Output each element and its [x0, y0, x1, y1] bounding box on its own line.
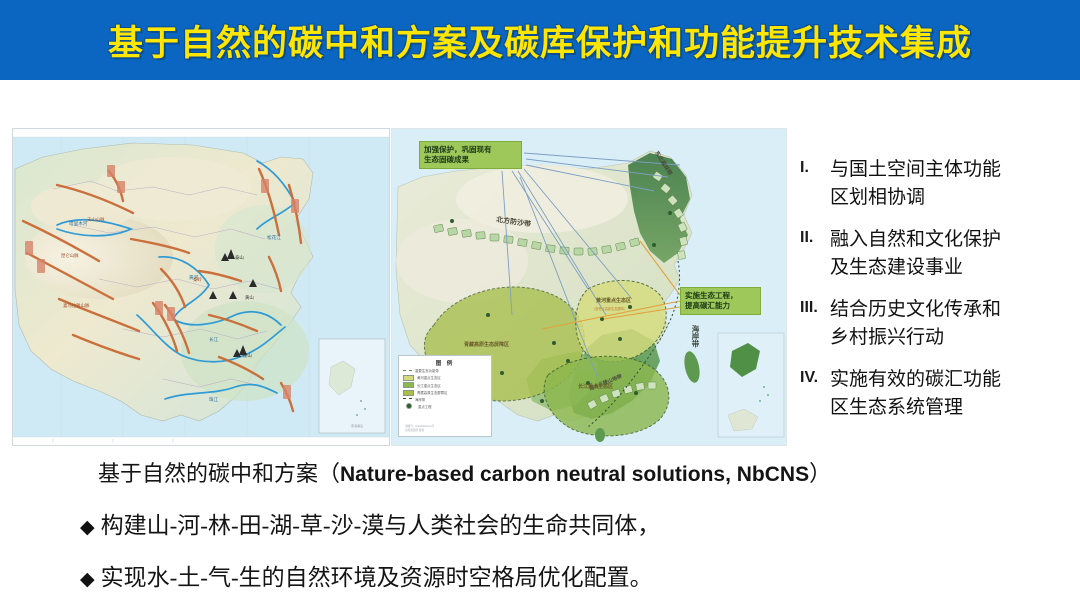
callout-engineering: 实施生态工程， 提高碳汇能力 — [680, 287, 761, 315]
list-item-line1: 结合历史文化传承和 — [830, 296, 1001, 324]
bullet-item-2: ◆ 实现水-土-气-生的自然环境及资源时空格局优化配置。 — [80, 558, 1080, 592]
legend-item: 重要生态功能带 — [403, 368, 491, 373]
legend-swatch-project — [406, 403, 412, 409]
page-title: 基于自然的碳中和方案及碳库保护和功能提升技术集成 — [0, 0, 1080, 80]
list-item-text: 结合历史文化传承和 乡村振兴行动 — [830, 296, 1001, 351]
right-map-eco-zones: 加强保护，巩固现有 生态固碳成果 实施生态工程， 提高碳汇能力 北方防沙带 东北… — [391, 128, 787, 446]
list-item-line2: 乡村振兴行动 — [830, 324, 1001, 352]
list-item-line2: 区划相协调 — [830, 184, 1001, 212]
list-item: II. 融入自然和文化保护 及生态建设事业 — [800, 226, 1072, 281]
bullet-text-2: 实现水-土-气-生的自然环境及资源时空格局优化配置。 — [101, 558, 653, 592]
left-map-svg: 南海诸岛 — [13, 129, 389, 445]
map-credit: 审图号：GS(2020)xxxx号 自然资源部 监制 — [405, 425, 434, 433]
legend-swatch-belt — [403, 370, 412, 372]
bottom-text-block: 基于自然的碳中和方案（Nature-based carbon neutral s… — [0, 448, 1080, 592]
list-item: III. 结合历史文化传承和 乡村振兴行动 — [800, 296, 1072, 351]
list-item-text: 融入自然和文化保护 及生态建设事业 — [830, 226, 1001, 281]
legend-item: 黄河重点生态区 — [403, 375, 491, 381]
legend-item: 重点工程 — [403, 403, 491, 409]
concept-close: ） — [809, 461, 831, 486]
list-item-numeral: II. — [800, 226, 830, 281]
list-item-text: 实施有效的碳汇功能 区生态系统管理 — [830, 366, 1001, 421]
list-item: I. 与国土空间主体功能 区划相协调 — [800, 156, 1072, 211]
concept-cn: 基于自然的碳中和方案（ — [98, 461, 340, 486]
legend-swatch-yellow-river — [403, 375, 414, 381]
legend-item: 海岸带 — [403, 397, 491, 402]
legend-swatch-yangtze — [403, 382, 414, 388]
concept-en: Nature-based carbon neutral solutions, N… — [340, 463, 809, 486]
diamond-bullet-icon: ◆ — [80, 516, 95, 539]
list-item-line2: 及生态建设事业 — [830, 254, 1001, 282]
slide-root: 基于自然的碳中和方案及碳库保护和功能提升技术集成 — [0, 0, 1080, 608]
key-points-list: I. 与国土空间主体功能 区划相协调 II. 融入自然和文化保护 及生态建设事业… — [800, 156, 1072, 436]
legend-swatch-coast — [403, 398, 412, 400]
bullet-text-1: 构建山-河-林-田-湖-草-沙-漠与人类社会的生命共同体， — [101, 506, 661, 540]
legend-swatch-tibet — [403, 390, 414, 396]
diamond-bullet-icon: ◆ — [80, 568, 95, 591]
legend-item: 长江重点生态区 — [403, 382, 491, 388]
list-item-line1: 融入自然和文化保护 — [830, 226, 1001, 254]
concept-line: 基于自然的碳中和方案（Nature-based carbon neutral s… — [98, 456, 1080, 488]
maps-container: 南海诸岛 塔里木河 黄河 长江 珠江 松花江 天山山脉 昆仑山脉 喜马拉雅山脉 … — [12, 128, 787, 446]
list-item-text: 与国土空间主体功能 区划相协调 — [830, 156, 1001, 211]
list-item: IV. 实施有效的碳汇功能 区生态系统管理 — [800, 366, 1072, 421]
list-item-line1: 实施有效的碳汇功能 — [830, 366, 1001, 394]
title-banner: 基于自然的碳中和方案及碳库保护和功能提升技术集成 — [0, 0, 1080, 80]
list-item-line2: 区生态系统管理 — [830, 394, 1001, 422]
map-legend: 图 例 重要生态功能带 黄河重点生态区 长江重点生态区 青藏高原生态屏障区 — [398, 355, 492, 437]
legend-title: 图 例 — [399, 359, 491, 367]
list-item-line1: 与国土空间主体功能 — [830, 156, 1001, 184]
svg-text:南海诸岛: 南海诸岛 — [351, 423, 363, 428]
bullet-item-1: ◆ 构建山-河-林-田-湖-草-沙-漠与人类社会的生命共同体， — [80, 506, 1080, 540]
list-item-numeral: IV. — [800, 366, 830, 421]
list-item-numeral: III. — [800, 296, 830, 351]
callout-protect: 加强保护，巩固现有 生态固碳成果 — [419, 141, 522, 169]
left-map-china-relief: 南海诸岛 塔里木河 黄河 长江 珠江 松花江 天山山脉 昆仑山脉 喜马拉雅山脉 … — [12, 128, 390, 446]
list-item-numeral: I. — [800, 156, 830, 211]
legend-item: 青藏高原生态屏障区 — [403, 390, 491, 396]
